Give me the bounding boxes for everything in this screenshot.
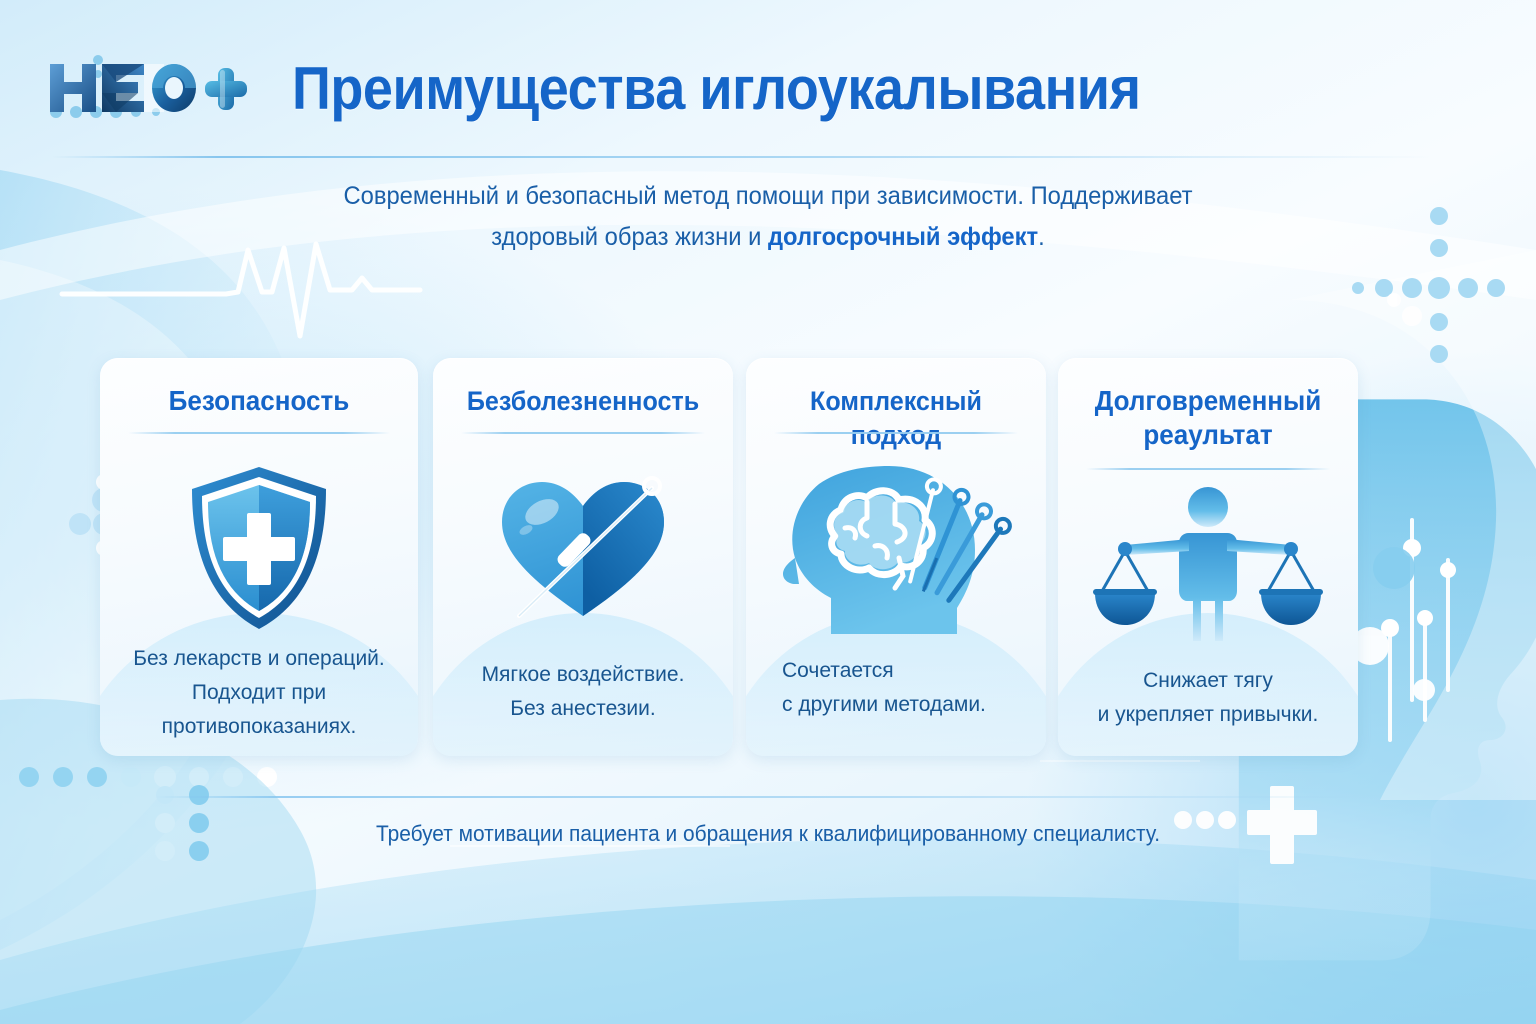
card-text-line-1: Снижает тягу xyxy=(1072,664,1344,698)
shield-cross-icon xyxy=(100,450,418,646)
card-text-line-3: противопоказаниях. xyxy=(114,710,404,744)
card-title: Долговременный реаультат xyxy=(1080,384,1337,452)
card-text-line-1: Сочетается xyxy=(782,654,1032,688)
card-description: Снижает тягу и укрепляет привычки. xyxy=(1072,664,1344,732)
card-divider xyxy=(128,432,390,434)
heart-needle-icon xyxy=(433,450,733,646)
benefit-card-safety[interactable]: Безопасность xyxy=(100,358,418,756)
footer-divider xyxy=(156,796,1376,798)
card-divider xyxy=(774,432,1018,434)
infographic-canvas: Преимущества иглоукалывания Современный … xyxy=(0,0,1536,1024)
benefit-card-painless[interactable]: Безболезненность xyxy=(433,358,733,756)
card-text-line-1: Мягкое воздействие. xyxy=(447,658,719,692)
benefit-card-complex-approach[interactable]: Комплексный подход xyxy=(746,358,1046,756)
card-description: Без лекарств и операций. Подходит при пр… xyxy=(114,642,404,744)
card-title-line-2: реаультат xyxy=(1143,419,1272,450)
card-divider xyxy=(1086,468,1330,470)
card-title: Безболезненность xyxy=(455,384,712,418)
benefit-cards: Безопасность xyxy=(0,0,1536,1024)
balance-person-scales-icon xyxy=(1058,478,1358,656)
footer-note: Требует мотивации пациента и обращения к… xyxy=(198,818,1338,850)
head-brain-needles-icon xyxy=(746,450,1046,646)
card-description: Сочетается с другими методами. xyxy=(760,654,1032,722)
card-title: Комплексный подход xyxy=(768,384,1025,452)
card-text-line-2: Без анестезии. xyxy=(447,692,719,726)
card-title: Безопасность xyxy=(122,384,395,418)
card-text-line-2: с другими методами. xyxy=(782,688,1032,722)
card-description: Мягкое воздействие. Без анестезии. xyxy=(447,658,719,726)
card-title-line-1: Долговременный xyxy=(1095,385,1322,416)
card-text-line-1: Без лекарств и операций. xyxy=(114,642,404,676)
card-divider xyxy=(461,432,705,434)
card-text-line-2: Подходит при xyxy=(114,676,404,710)
benefit-card-long-term-result[interactable]: Долговременный реаультат xyxy=(1058,358,1358,756)
card-text-line-2: и укрепляет привычки. xyxy=(1072,698,1344,732)
